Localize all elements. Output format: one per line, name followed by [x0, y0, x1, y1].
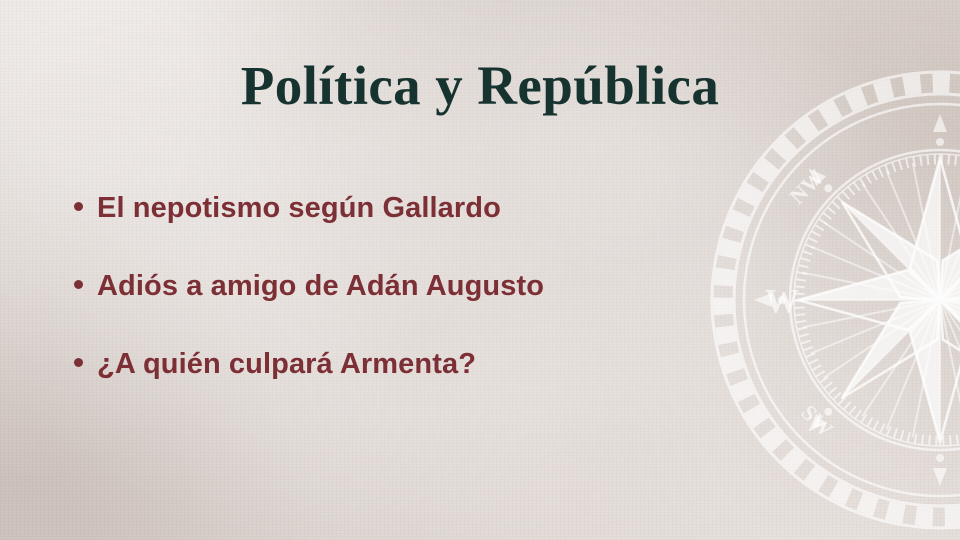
list-item: ¿A quién culpará Armenta?: [74, 348, 774, 426]
compass-label-sw: SW: [796, 400, 838, 442]
page-title: Política y República: [0, 55, 960, 117]
slide-canvas: W NW SW Política y República El nepotism…: [0, 0, 960, 540]
list-item-label: El nepotismo según Gallardo: [97, 192, 501, 225]
compass-label-nw: NW: [784, 164, 828, 208]
bullet-dot-icon: [74, 358, 83, 367]
list-item: Adiós a amigo de Adán Augusto: [74, 270, 774, 348]
bullet-dot-icon: [74, 202, 83, 211]
bullet-list: El nepotismo según Gallardo Adiós a amig…: [74, 192, 774, 426]
list-item: El nepotismo según Gallardo: [74, 192, 774, 270]
list-item-label: Adiós a amigo de Adán Augusto: [97, 270, 544, 303]
bullet-dot-icon: [74, 280, 83, 289]
list-item-label: ¿A quién culpará Armenta?: [97, 348, 476, 381]
